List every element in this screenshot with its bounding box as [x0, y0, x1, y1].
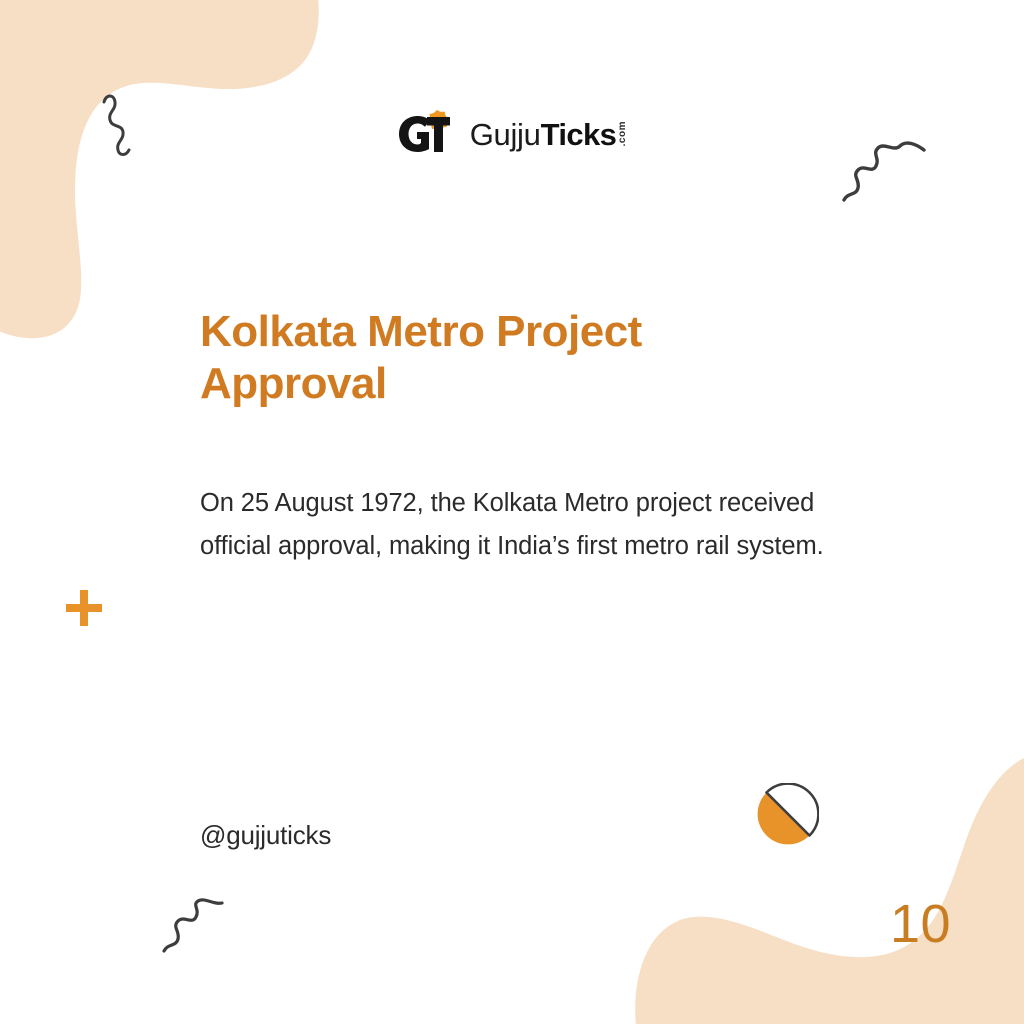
brand-logo: Gujju Ticks .com — [0, 106, 1024, 162]
page-number: 10 — [890, 897, 951, 951]
gt-monogram-icon — [396, 110, 460, 158]
brand-name-light: Gujju — [470, 119, 541, 150]
split-circle-icon — [757, 783, 819, 845]
brand-tld: .com — [618, 121, 628, 146]
body-paragraph: On 25 August 1972, the Kolkata Metro pro… — [200, 482, 825, 568]
squiggle-icon-bottom-left — [158, 897, 240, 959]
page-title: Kolkata Metro Project Approval — [200, 306, 700, 410]
blob-shape-bottom-right-icon — [634, 744, 1024, 1024]
brand-name-bold: Ticks — [541, 119, 617, 150]
plus-mark-icon — [64, 588, 104, 628]
brand-wordmark: Gujju Ticks .com — [470, 119, 629, 150]
social-handle: @gujjuticks — [200, 820, 331, 851]
social-post-slide: Gujju Ticks .com Kolkata Metro Project A… — [0, 0, 1024, 1024]
content-block: Kolkata Metro Project Approval On 25 Aug… — [200, 306, 840, 410]
